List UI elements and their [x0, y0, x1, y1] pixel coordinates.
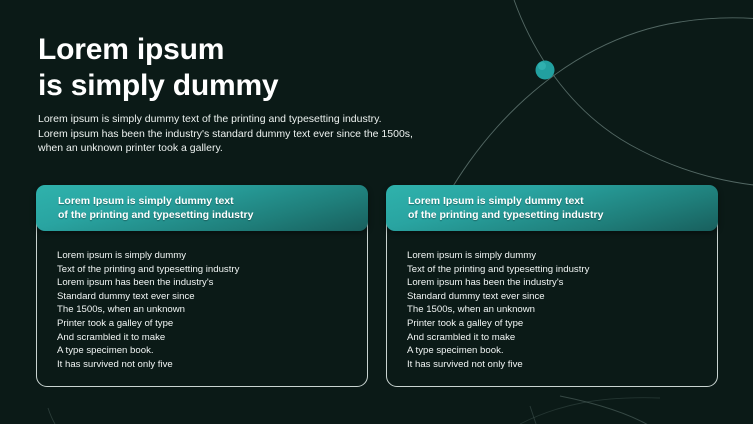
list-item: It has survived not only five: [407, 358, 589, 372]
page-title: Lorem ipsum is simply dummy: [38, 32, 278, 104]
card-left-header-text: Lorem Ipsum is simply dummy text of the …: [58, 194, 253, 222]
list-item: Printer took a galley of type: [57, 317, 239, 331]
list-item: Standard dummy text ever since: [407, 290, 589, 304]
list-item: Text of the printing and typesetting ind…: [57, 263, 239, 277]
page-subtitle: Lorem ipsum is simply dummy text of the …: [38, 112, 413, 156]
list-item: And scrambled it to make: [57, 331, 239, 345]
card-left-header-banner: Lorem Ipsum is simply dummy text of the …: [36, 185, 368, 231]
list-item: A type specimen book.: [57, 344, 239, 358]
list-item: The 1500s, when an unknown: [407, 303, 589, 317]
card-right-header-text: Lorem Ipsum is simply dummy text of the …: [408, 194, 603, 222]
slide-content: Lorem ipsum is simply dummy Lorem ipsum …: [0, 0, 753, 424]
list-item: Text of the printing and typesetting ind…: [407, 263, 589, 277]
card-right-body: Lorem ipsum is simply dummy Text of the …: [407, 249, 589, 371]
content-card-left: Lorem ipsum is simply dummy Text of the …: [36, 207, 368, 387]
list-item: Lorem ipsum has been the industry's: [407, 276, 589, 290]
list-item: Lorem ipsum is simply dummy: [407, 249, 589, 263]
list-item: Printer took a galley of type: [407, 317, 589, 331]
list-item: Lorem ipsum is simply dummy: [57, 249, 239, 263]
slide-canvas: Lorem ipsum is simply dummy Lorem ipsum …: [0, 0, 753, 424]
list-item: And scrambled it to make: [407, 331, 589, 345]
card-right-header-banner: Lorem Ipsum is simply dummy text of the …: [386, 185, 718, 231]
card-left-body: Lorem ipsum is simply dummy Text of the …: [57, 249, 239, 371]
list-item: Lorem ipsum has been the industry's: [57, 276, 239, 290]
list-item: The 1500s, when an unknown: [57, 303, 239, 317]
content-card-right: Lorem ipsum is simply dummy Text of the …: [386, 207, 718, 387]
list-item: A type specimen book.: [407, 344, 589, 358]
list-item: Standard dummy text ever since: [57, 290, 239, 304]
list-item: It has survived not only five: [57, 358, 239, 372]
